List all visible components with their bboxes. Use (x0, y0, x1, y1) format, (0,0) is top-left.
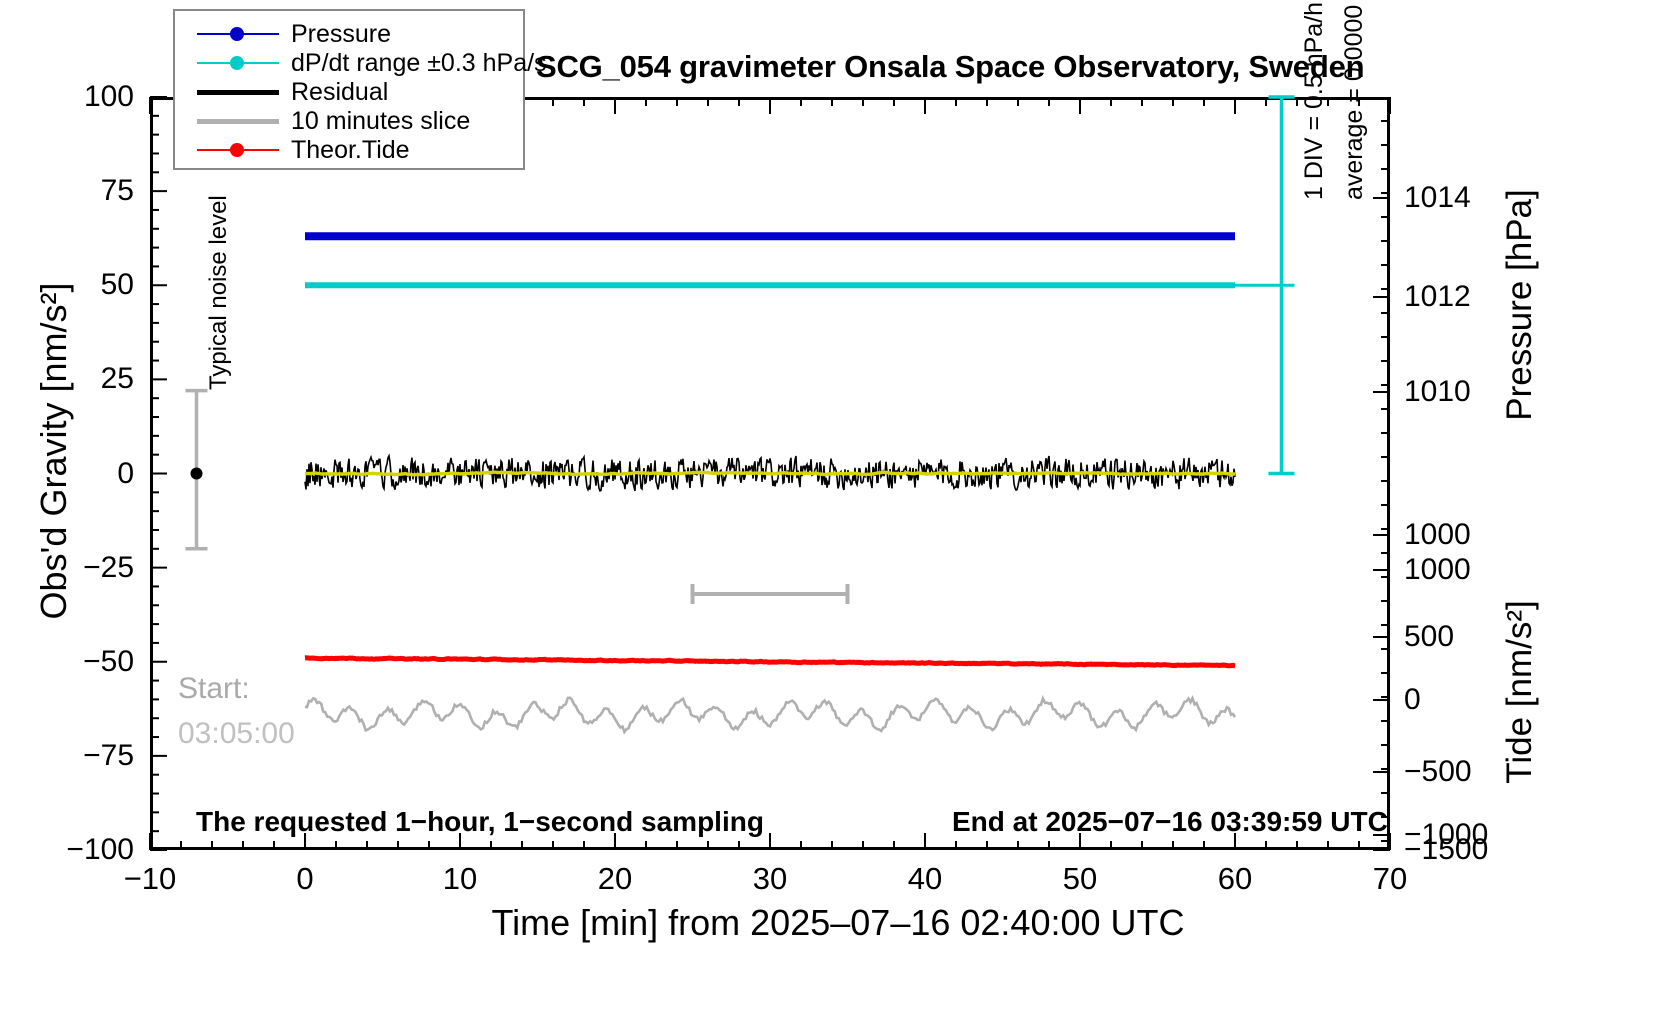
x-tick-label: 30 (710, 861, 830, 897)
y-tick-label-pressure: 1014 (1404, 181, 1471, 215)
y-tick-label-tide: −500 (1404, 755, 1472, 789)
y-tick-label-left: 75 (14, 174, 134, 208)
legend-swatch-icon (197, 82, 279, 102)
legend-item-label: Residual (291, 78, 388, 107)
x-tick-label: 60 (1175, 861, 1295, 897)
legend-marker-icon (230, 27, 244, 41)
x-tick-label: 40 (865, 861, 985, 897)
y-tick-label-left: 0 (14, 457, 134, 491)
y-tick-label-left: −75 (14, 739, 134, 773)
chart-legend: PressuredP/dt range ±0.3 hPa/sResidual10… (173, 9, 525, 170)
y-tick-label-tide: −1500 (1404, 833, 1488, 867)
y-tick-label-pressure: 1010 (1404, 375, 1471, 409)
legend-item-label: dP/dt range ±0.3 hPa/s (291, 49, 547, 78)
y-tick-label-left: 100 (14, 80, 134, 114)
typical-noise-level-label: Typical noise level (205, 195, 233, 390)
legend-marker-icon (230, 56, 244, 70)
start-label: Start: (178, 672, 250, 706)
legend-line-icon (197, 90, 279, 95)
legend-item: Pressure (175, 20, 523, 48)
y-tick-label-tide: 500 (1404, 620, 1454, 654)
y-tick-label-left: −50 (14, 645, 134, 679)
y-tick-label-pressure: 1012 (1404, 280, 1471, 314)
y-tick-label-left: 25 (14, 362, 134, 396)
y-tick-label-left: −100 (14, 833, 134, 867)
y-tick-label-tide: 0 (1404, 683, 1421, 717)
legend-item: 10 minutes slice (175, 107, 523, 135)
x-tick-label: 50 (1020, 861, 1140, 897)
y-tick-label-tide: 1000 (1404, 553, 1471, 587)
legend-swatch-icon (197, 140, 279, 160)
y-tick-label-left: 50 (14, 268, 134, 302)
legend-item-label: Theor.Tide (291, 136, 410, 165)
legend-swatch-icon (197, 53, 279, 73)
start-time-value: 03:05:00 (178, 717, 295, 751)
y-axis-label-pressure: Pressure [hPa] (1500, 85, 1540, 525)
sampling-note: The requested 1−hour, 1−second sampling (196, 806, 764, 838)
legend-item: Theor.Tide (175, 136, 523, 164)
div-scale-label: 1 DIV = 0.5 hPa/h (1300, 2, 1329, 200)
legend-item-label: 10 minutes slice (291, 107, 470, 136)
x-tick-label: 20 (555, 861, 675, 897)
legend-item-label: Pressure (291, 20, 391, 49)
x-axis-label: Time [min] from 2025–07–16 02:40:00 UTC (0, 902, 1676, 944)
average-label: average = 0.0000 (1340, 5, 1369, 200)
legend-item: Residual (175, 78, 523, 106)
y-axis-label-tide: Tide [nm/s²] (1500, 517, 1540, 867)
legend-swatch-icon (197, 111, 279, 131)
legend-line-icon (197, 119, 279, 124)
legend-marker-icon (230, 143, 244, 157)
legend-swatch-icon (197, 24, 279, 44)
y-tick-label-left: −25 (14, 551, 134, 585)
end-time-note: End at 2025−07−16 03:39:59 UTC (952, 806, 1388, 838)
legend-item: dP/dt range ±0.3 hPa/s (175, 49, 523, 77)
y-tick-label-pressure: 1000 (1404, 518, 1471, 552)
x-tick-label: 10 (400, 861, 520, 897)
x-tick-label: 0 (245, 861, 365, 897)
